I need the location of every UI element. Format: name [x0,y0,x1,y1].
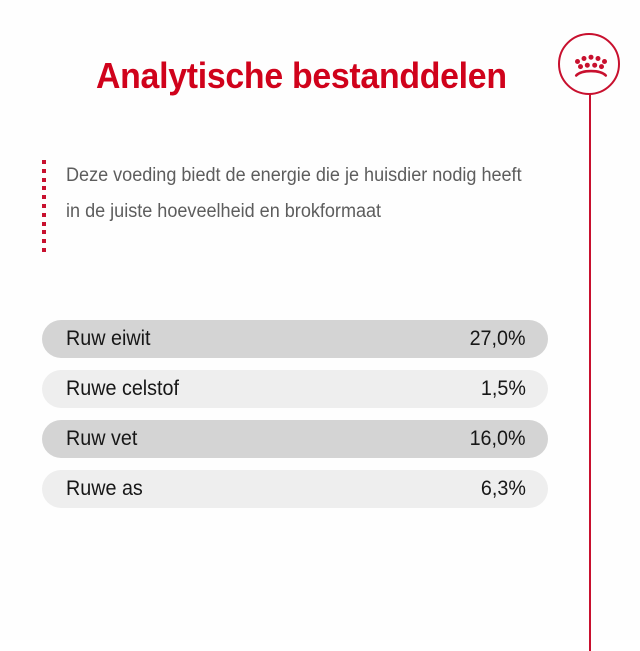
analytical-constituents-card: Analytische bestanddelen Deze voeding bi… [0,0,640,640]
rail-dot [42,239,46,243]
rail-dot [42,230,46,234]
rail-dot [42,195,46,199]
rail-dot [42,222,46,226]
royal-canin-crown-logo [558,33,620,95]
nutrient-value: 1,5% [481,377,526,401]
brand-vertical-rule [589,63,591,651]
intro-text: Deze voeding biedt de energie die je hui… [66,158,537,230]
rail-dot [42,186,46,190]
table-row: Ruw vet 16,0% [42,420,548,458]
brand-logo-container [558,33,624,633]
analytical-constituents-list: Ruw eiwit 27,0% Ruwe celstof 1,5% Ruw ve… [42,320,548,520]
table-row: Ruw eiwit 27,0% [42,320,548,358]
rail-dot [42,160,46,164]
rail-dot [42,169,46,173]
intro-text-line-1: Deze voeding biedt de energie die je hui… [66,158,537,194]
rail-dot [42,213,46,217]
rail-dot [42,204,46,208]
nutrient-name: Ruwe as [66,477,453,501]
crown-icon [573,53,609,79]
page-title: Analytische bestanddelen [96,54,500,98]
rail-dot [42,248,46,252]
dotted-rail-decoration [42,160,46,252]
intro-block: Deze voeding biedt de energie die je hui… [42,158,562,254]
nutrient-value: 27,0% [470,327,526,351]
table-row: Ruwe celstof 1,5% [42,370,548,408]
nutrient-value: 16,0% [470,427,526,451]
table-row: Ruwe as 6,3% [42,470,548,508]
nutrient-value: 6,3% [481,477,526,501]
intro-text-line-2: in de juiste hoeveelheid en brokformaat [66,194,537,230]
nutrient-name: Ruw eiwit [66,327,442,351]
rail-dot [42,178,46,182]
nutrient-name: Ruw vet [66,427,442,451]
nutrient-name: Ruwe celstof [66,377,453,401]
